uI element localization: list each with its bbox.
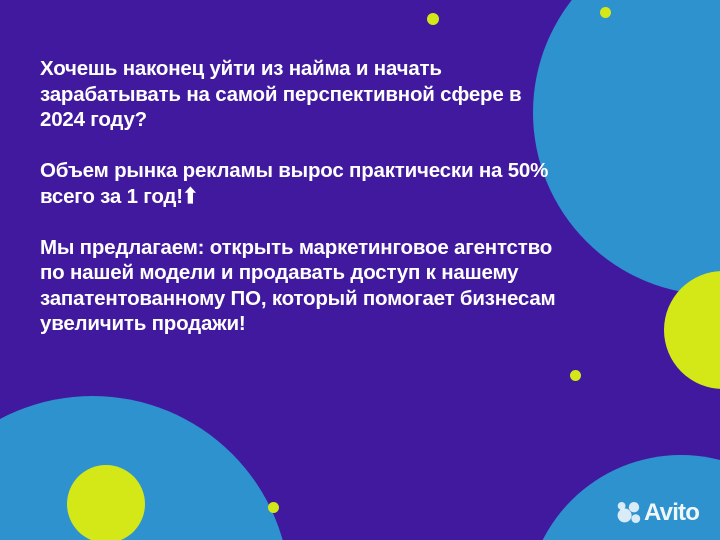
circle-blue-bottom-right xyxy=(526,455,720,540)
promo-copy-block: Хочешь наконец уйти из найма и начать за… xyxy=(40,56,560,337)
circle-yellow-right-edge xyxy=(664,271,720,389)
paragraph-stat: Объем рынка рекламы вырос практически на… xyxy=(40,158,560,209)
dot-mid-right xyxy=(570,370,581,381)
dot-bottom-left xyxy=(268,502,279,513)
arrow-up-icon xyxy=(184,185,197,203)
paragraph-offer: Мы предлагаем: открыть маркетинговое аге… xyxy=(40,235,560,337)
avito-dots-icon xyxy=(617,502,641,524)
paragraph-stat-text: Объем рынка рекламы вырос практически на… xyxy=(40,159,554,208)
avito-wordmark: Avito xyxy=(644,501,699,525)
avito-watermark: Avito xyxy=(617,500,699,526)
promo-creative-canvas: Хочешь наконец уйти из найма и начать за… xyxy=(0,0,720,540)
circle-yellow-bottom-left xyxy=(67,465,145,540)
circle-blue-bottom-left xyxy=(0,396,290,540)
dot-top-center xyxy=(427,13,439,25)
paragraph-hook: Хочешь наконец уйти из найма и начать за… xyxy=(40,56,560,133)
dot-top-right xyxy=(600,7,611,18)
circle-blue-top-right xyxy=(533,0,720,295)
